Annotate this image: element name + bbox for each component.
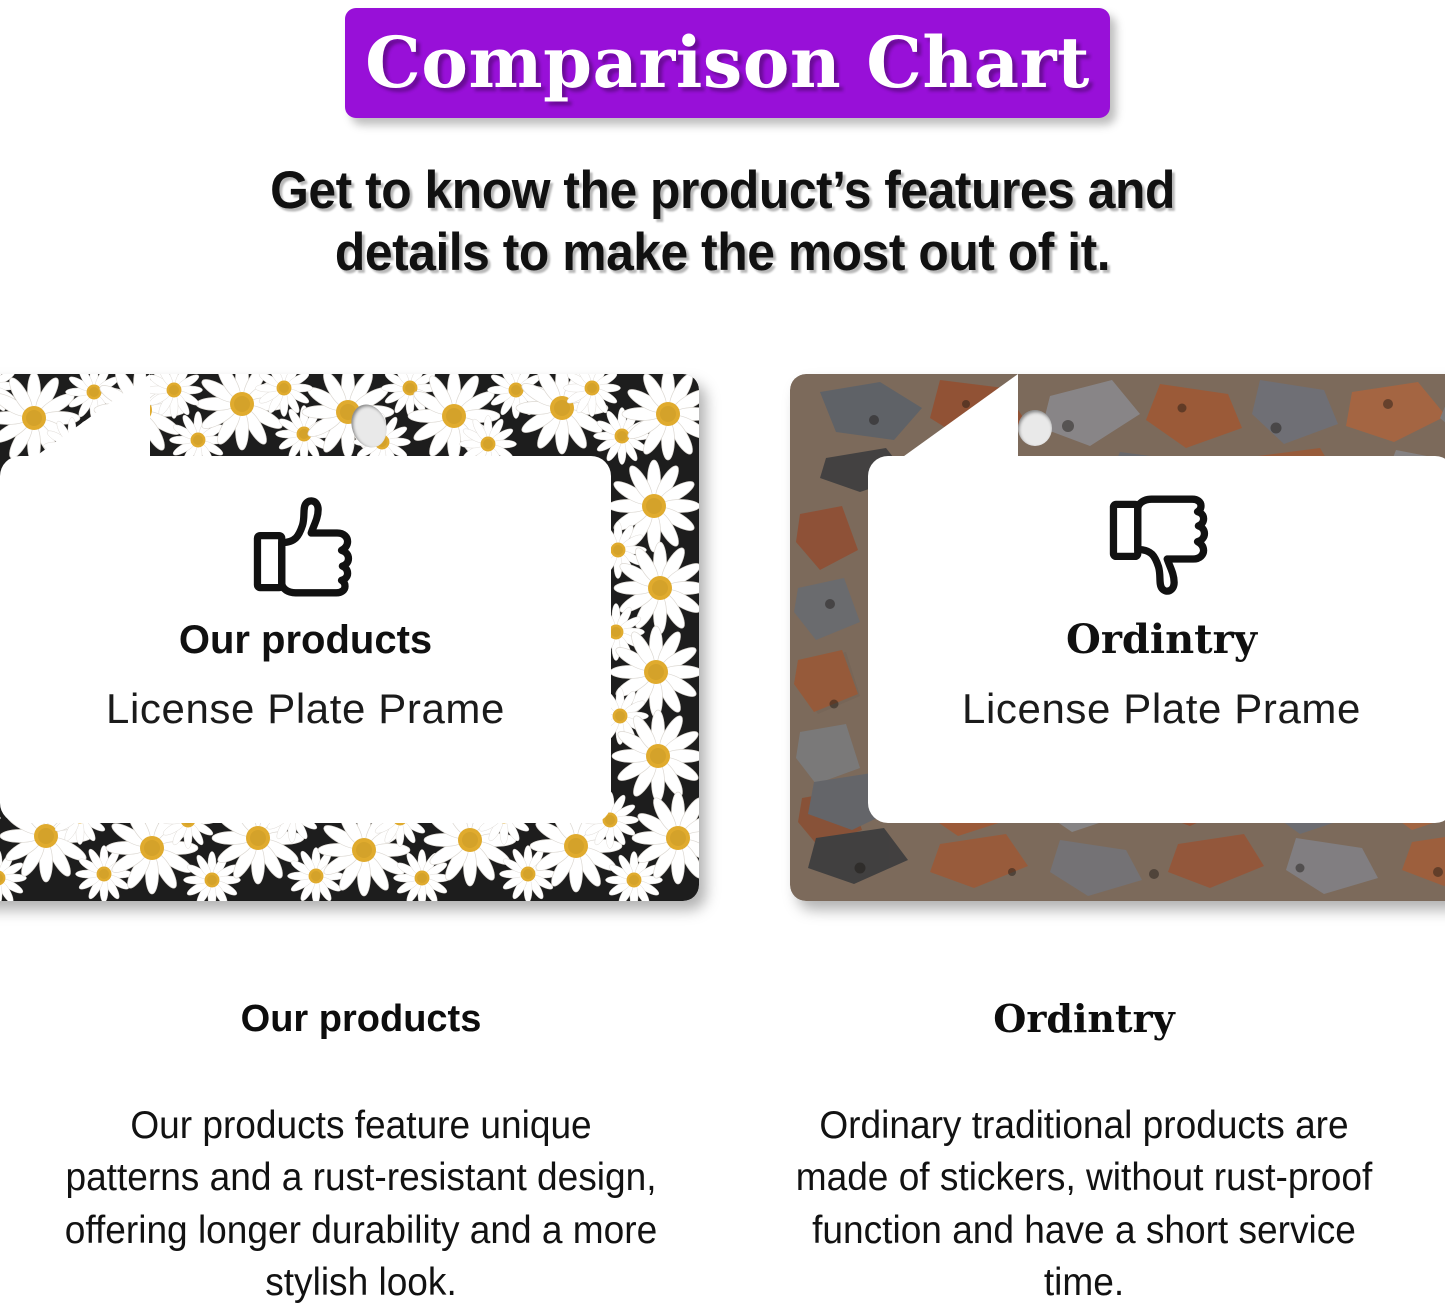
frame-brand-left: Our products (179, 620, 432, 660)
mounting-hole-icon (1018, 410, 1052, 446)
caption-title-left: Our products (0, 1000, 722, 1038)
thumbs-up-icon (250, 494, 362, 598)
caption-body-left: Our products feature unique patterns and… (18, 1100, 704, 1309)
product-frame-ordintry: Ordintry License Plate Prame (790, 374, 1445, 901)
product-frame-our-products: Our products License Plate Prame (0, 374, 699, 901)
page-title: Comparison Chart (365, 28, 1090, 98)
frame-product-name-right: License Plate Prame (962, 688, 1361, 730)
caption-title-right: Ordintry (723, 1000, 1445, 1038)
frame-content-left: Our products License Plate Prame (0, 494, 699, 730)
subheading-line-1: Get to know the product’s features and (43, 160, 1401, 222)
caption-ordintry: Ordintry Ordinary traditional products a… (723, 1000, 1445, 1309)
frame-product-name-left: License Plate Prame (106, 688, 505, 730)
caption-body-right: Ordinary traditional products are made o… (741, 1100, 1427, 1309)
frame-content-right: Ordintry License Plate Prame (790, 494, 1445, 730)
frame-brand-right: Ordintry (1066, 620, 1257, 660)
thumbs-down-icon (1106, 494, 1218, 598)
subheading: Get to know the product’s features and d… (43, 160, 1401, 284)
caption-our-products: Our products Our products feature unique… (0, 1000, 722, 1309)
comparison-chart-banner: Comparison Chart (345, 8, 1110, 118)
subheading-line-2: details to make the most out of it. (43, 222, 1401, 284)
banner-background: Comparison Chart (345, 8, 1110, 118)
